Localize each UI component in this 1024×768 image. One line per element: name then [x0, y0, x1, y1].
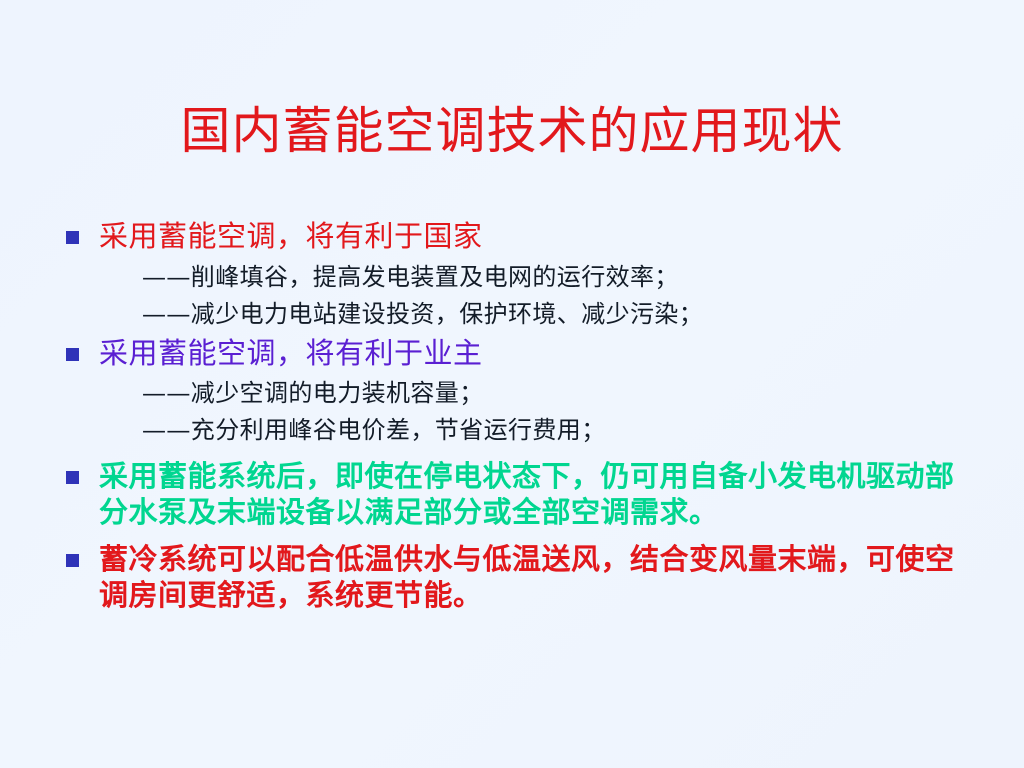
sub-line-national-2: ——减少电力电站建设投资，保护环境、减少污染；	[66, 298, 966, 331]
sub-line-owner-2: ——充分利用峰谷电价差，节省运行费用；	[66, 414, 966, 447]
square-bullet-icon	[66, 231, 79, 244]
bullet-heading-national-benefit: 采用蓄能空调，将有利于国家	[99, 218, 966, 255]
square-bullet-icon	[66, 554, 79, 567]
presentation-slide: 国内蓄能空调技术的应用现状 采用蓄能空调，将有利于国家 ——削峰填谷，提高发电装…	[0, 0, 1024, 768]
slide-title: 国内蓄能空调技术的应用现状	[0, 104, 1024, 159]
sub-line-national-1: ——削峰填谷，提高发电装置及电网的运行效率；	[66, 261, 966, 294]
bullet-item-national-benefit: 采用蓄能空调，将有利于国家	[66, 218, 966, 255]
bullet-heading-low-temp-supply: 蓄冷系统可以配合低温供水与低温送风，结合变风量末端，可使空调房间更舒适，系统更节…	[99, 541, 966, 614]
square-bullet-icon	[66, 348, 79, 361]
sub-line-owner-1: ——减少空调的电力装机容量；	[66, 377, 966, 410]
bullet-heading-backup-power: 采用蓄能系统后，即使在停电状态下，仍可用自备小发电机驱动部分水泵及末端设备以满足…	[99, 458, 966, 531]
bullet-heading-owner-benefit: 采用蓄能空调，将有利于业主	[99, 335, 966, 372]
bullet-item-backup-power: 采用蓄能系统后，即使在停电状态下，仍可用自备小发电机驱动部分水泵及末端设备以满足…	[66, 458, 966, 531]
slide-body: 采用蓄能空调，将有利于国家 ——削峰填谷，提高发电装置及电网的运行效率； ——减…	[66, 218, 966, 614]
square-bullet-icon	[66, 471, 79, 484]
bullet-item-low-temp-supply: 蓄冷系统可以配合低温供水与低温送风，结合变风量末端，可使空调房间更舒适，系统更节…	[66, 541, 966, 614]
bullet-item-owner-benefit: 采用蓄能空调，将有利于业主	[66, 335, 966, 372]
